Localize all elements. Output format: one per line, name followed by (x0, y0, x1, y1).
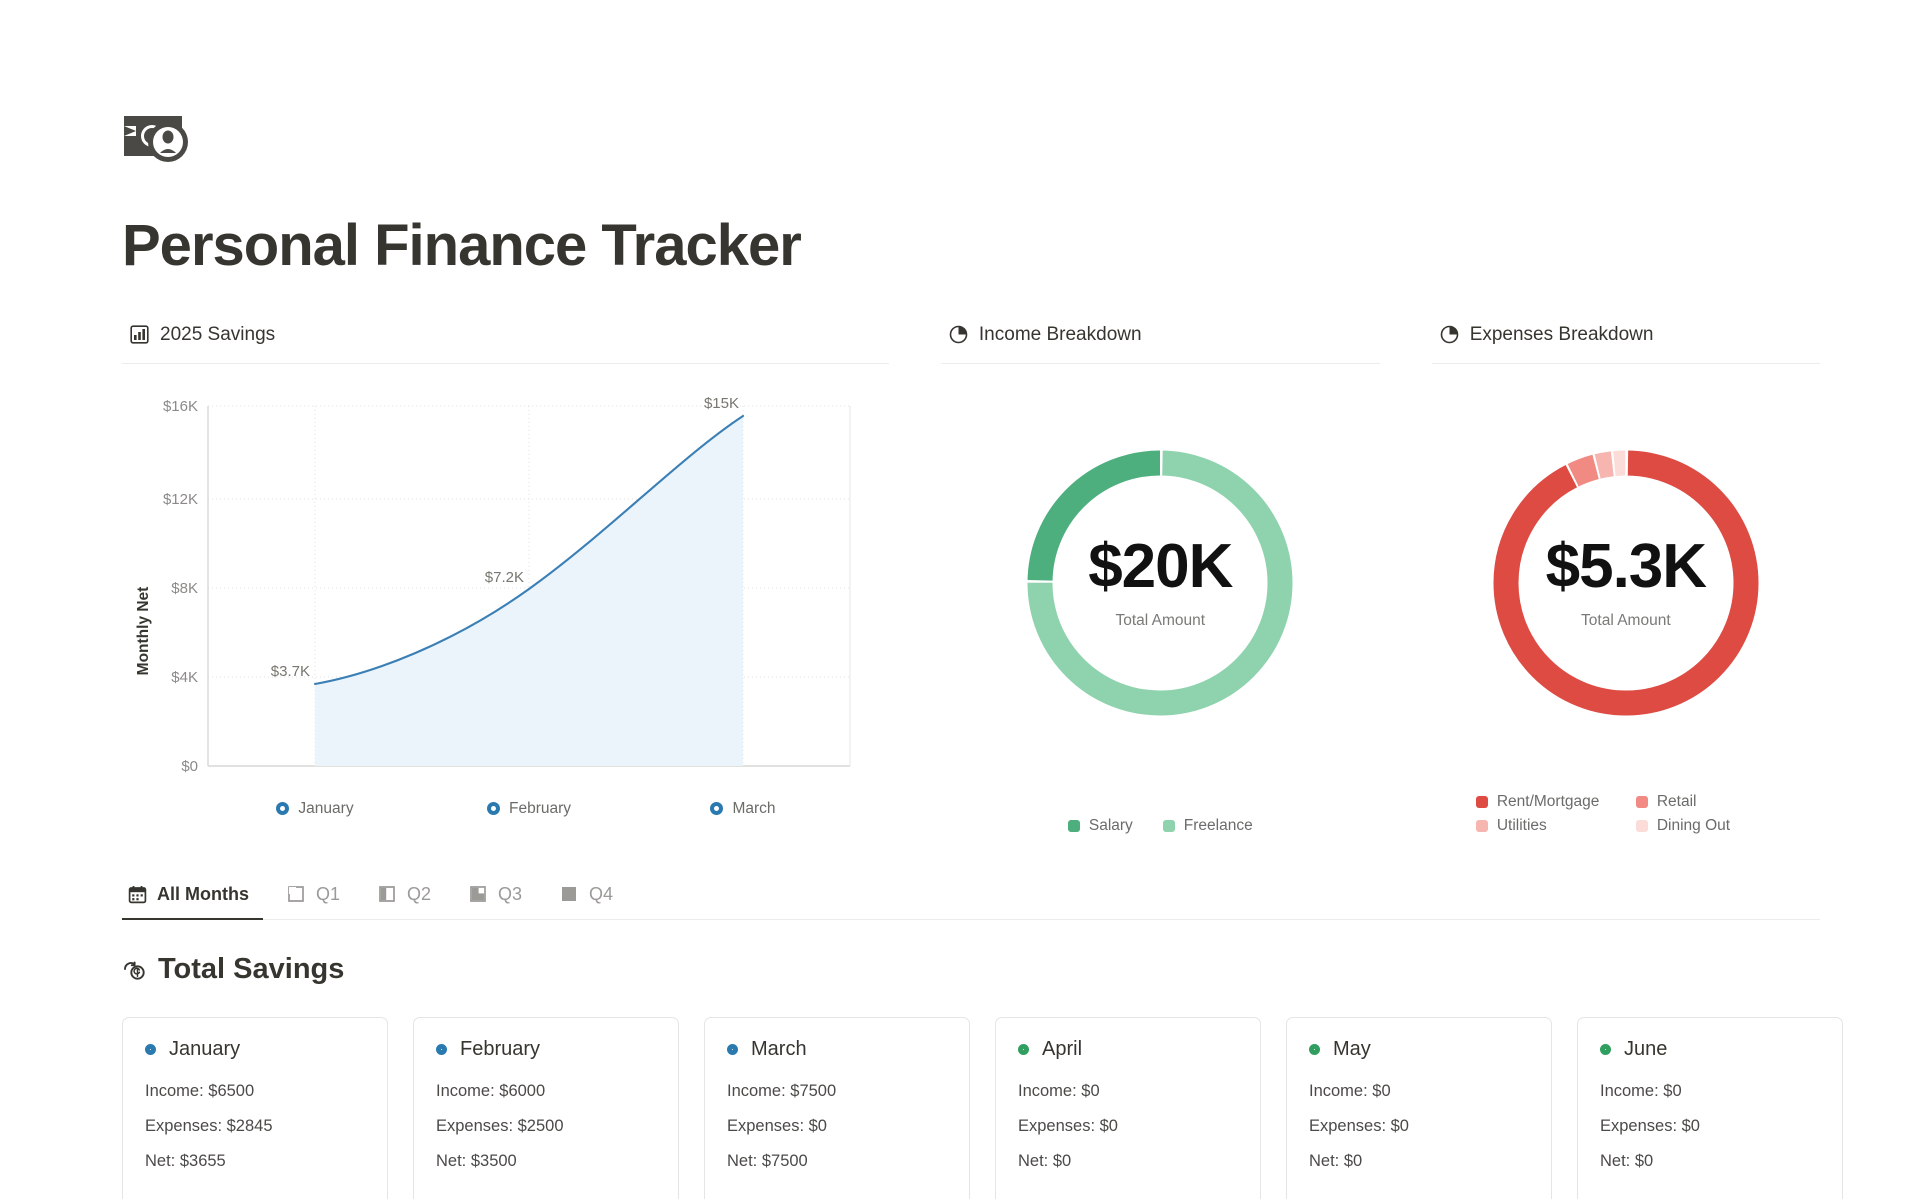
y-tick-label: $12K (163, 491, 198, 508)
y-tick-label: $8K (171, 580, 198, 597)
dashboard-row: 2025 Savings Monthly Net $16K $12K $8K $… (0, 324, 1920, 839)
card-header: May (1309, 1038, 1529, 1061)
month-card-april[interactable]: April Income: $0 Expenses: $0 Net: $0 (995, 1017, 1261, 1199)
tab-all-months[interactable]: All Months (122, 880, 263, 920)
month-card-may[interactable]: May Income: $0 Expenses: $0 Net: $0 (1286, 1017, 1552, 1199)
expenses-donut-center: $5.3K Total Amount (1485, 442, 1767, 724)
month-status-dot-icon (1018, 1044, 1029, 1055)
money-with-face-icon (122, 112, 200, 174)
legend-label: Dining Out (1657, 817, 1730, 835)
legend-swatch-icon (1636, 820, 1648, 832)
legend-label: Retail (1657, 793, 1697, 811)
point-label-march: $15K (704, 395, 739, 412)
savings-chart: Monthly Net $16K $12K $8K $4K $0 (122, 394, 889, 839)
income-total-label: Total Amount (1115, 612, 1205, 630)
x-axis-item-february[interactable]: February (422, 800, 636, 818)
card-month-label: January (169, 1038, 240, 1061)
income-panel-title: Income Breakdown (979, 324, 1142, 346)
income-donut-area: $20K Total Amount Salary Freelance (941, 394, 1380, 839)
legend-label: Freelance (1184, 817, 1253, 835)
legend-swatch-icon (1636, 796, 1648, 808)
card-net: Net: $7500 (727, 1152, 947, 1171)
card-expenses: Expenses: $0 (1018, 1117, 1238, 1136)
income-donut[interactable]: $20K Total Amount (1019, 442, 1301, 724)
card-income: Income: $6500 (145, 1082, 365, 1101)
expenses-legend: Rent/Mortgage Retail Utilities Dini (1432, 793, 1820, 835)
legend-swatch-icon (1476, 796, 1488, 808)
legend-item-salary[interactable]: Salary (1068, 817, 1133, 835)
card-expenses: Expenses: $2845 (145, 1117, 365, 1136)
legend-label: Salary (1089, 817, 1133, 835)
legend-label: Utilities (1497, 817, 1547, 835)
quarter-four-icon (560, 885, 579, 904)
card-month-label: April (1042, 1038, 1082, 1061)
month-cards-row: January Income: $6500 Expenses: $2845 Ne… (122, 1017, 1920, 1199)
expenses-total-label: Total Amount (1581, 612, 1671, 630)
card-month-label: May (1333, 1038, 1371, 1061)
finance-dashboard-page: Personal Finance Tracker 2025 Savings Mo… (0, 0, 1920, 1199)
money-cycle-icon (122, 957, 146, 981)
card-income: Income: $0 (1309, 1082, 1529, 1101)
expenses-donut[interactable]: $5.3K Total Amount (1485, 442, 1767, 724)
card-income: Income: $6000 (436, 1082, 656, 1101)
legend-item-rent-mortgage[interactable]: Rent/Mortgage (1476, 793, 1606, 811)
card-expenses: Expenses: $0 (727, 1117, 947, 1136)
quarter-three-icon (469, 885, 488, 904)
legend-item-freelance[interactable]: Freelance (1163, 817, 1253, 835)
card-net: Net: $0 (1309, 1152, 1529, 1171)
card-expenses: Expenses: $2500 (436, 1117, 656, 1136)
tab-q2[interactable]: Q2 (372, 880, 445, 920)
month-card-june[interactable]: June Income: $0 Expenses: $0 Net: $0 (1577, 1017, 1843, 1199)
month-status-dot-icon (1600, 1044, 1611, 1055)
tab-q1[interactable]: Q1 (281, 880, 354, 920)
income-chart-panel: Income Breakdown $20K Total Amount (941, 324, 1380, 839)
income-panel-header: Income Breakdown (941, 324, 1380, 364)
legend-item-dining-out[interactable]: Dining Out (1636, 817, 1766, 835)
card-header: February (436, 1038, 656, 1061)
x-axis-label: March (732, 800, 775, 818)
y-tick-label: $16K (163, 398, 198, 415)
tab-label: All Months (157, 884, 249, 905)
card-month-label: February (460, 1038, 540, 1061)
month-card-march[interactable]: March Income: $7500 Expenses: $0 Net: $7… (704, 1017, 970, 1199)
point-label-february: $7.2K (485, 569, 524, 586)
x-axis-label: January (298, 800, 353, 818)
income-legend: Salary Freelance (941, 817, 1380, 835)
month-card-february[interactable]: February Income: $6000 Expenses: $2500 N… (413, 1017, 679, 1199)
legend-swatch-icon (1476, 820, 1488, 832)
expenses-panel-title: Expenses Breakdown (1470, 324, 1654, 346)
card-header: January (145, 1038, 365, 1061)
card-month-label: June (1624, 1038, 1667, 1061)
page-header: Personal Finance Tracker (0, 0, 1920, 278)
area-fill (315, 416, 743, 766)
month-marker-icon (276, 802, 289, 815)
point-label-january: $3.7K (271, 663, 310, 680)
expenses-total-value: $5.3K (1546, 536, 1706, 598)
x-axis-legend: January February March (208, 800, 850, 818)
expenses-chart-panel: Expenses Breakdown (1432, 324, 1820, 839)
card-net: Net: $3655 (145, 1152, 365, 1171)
card-header: June (1600, 1038, 1820, 1061)
quarter-two-icon (378, 885, 397, 904)
x-axis-label: February (509, 800, 571, 818)
legend-item-retail[interactable]: Retail (1636, 793, 1766, 811)
y-tick-label: $4K (171, 669, 198, 686)
expenses-panel-header: Expenses Breakdown (1432, 324, 1820, 364)
tab-q4[interactable]: Q4 (554, 880, 627, 920)
savings-panel-title: 2025 Savings (160, 324, 275, 346)
savings-chart-panel: 2025 Savings Monthly Net $16K $12K $8K $… (122, 324, 889, 839)
quarter-one-icon (287, 885, 306, 904)
calendar-icon (128, 885, 147, 904)
y-tick-label: $0 (181, 758, 198, 775)
view-tabs: All Months Q1 Q2 (122, 879, 1820, 920)
card-net: Net: $0 (1018, 1152, 1238, 1171)
card-expenses: Expenses: $0 (1309, 1117, 1529, 1136)
month-card-january[interactable]: January Income: $6500 Expenses: $2845 Ne… (122, 1017, 388, 1199)
tab-q3[interactable]: Q3 (463, 880, 536, 920)
page-title: Personal Finance Tracker (122, 214, 1920, 278)
month-status-dot-icon (436, 1044, 447, 1055)
card-net: Net: $3500 (436, 1152, 656, 1171)
card-income: Income: $0 (1600, 1082, 1820, 1101)
tab-label: Q4 (589, 884, 613, 905)
legend-item-utilities[interactable]: Utilities (1476, 817, 1606, 835)
x-axis-item-january[interactable]: January (208, 800, 422, 818)
card-header: March (727, 1038, 947, 1061)
card-income: Income: $0 (1018, 1082, 1238, 1101)
savings-panel-header: 2025 Savings (122, 324, 889, 364)
legend-swatch-icon (1163, 820, 1175, 832)
tab-label: Q1 (316, 884, 340, 905)
x-axis-item-march[interactable]: March (636, 800, 850, 818)
legend-swatch-icon (1068, 820, 1080, 832)
month-marker-icon (487, 802, 500, 815)
card-expenses: Expenses: $0 (1600, 1117, 1820, 1136)
income-donut-center: $20K Total Amount (1019, 442, 1301, 724)
bar-chart-icon (130, 325, 149, 344)
pie-chart-icon (1440, 325, 1459, 344)
total-savings-heading: Total Savings (122, 953, 1920, 986)
expenses-donut-area: $5.3K Total Amount Rent/Mortgage Retail (1432, 394, 1820, 839)
month-status-dot-icon (145, 1044, 156, 1055)
card-income: Income: $7500 (727, 1082, 947, 1101)
income-total-value: $20K (1088, 536, 1232, 598)
card-month-label: March (751, 1038, 807, 1061)
month-status-dot-icon (1309, 1044, 1320, 1055)
y-axis-title: Monthly Net (135, 586, 153, 675)
tab-label: Q3 (498, 884, 522, 905)
card-net: Net: $0 (1600, 1152, 1820, 1171)
pie-chart-icon (949, 325, 968, 344)
month-marker-icon (710, 802, 723, 815)
savings-area-chart: $16K $12K $8K $4K $0 (122, 394, 882, 794)
card-header: April (1018, 1038, 1238, 1061)
tab-label: Q2 (407, 884, 431, 905)
view-tabs-container: All Months Q1 Q2 (0, 879, 1920, 920)
month-status-dot-icon (727, 1044, 738, 1055)
section-title-text: Total Savings (158, 953, 344, 986)
legend-label: Rent/Mortgage (1497, 793, 1600, 811)
